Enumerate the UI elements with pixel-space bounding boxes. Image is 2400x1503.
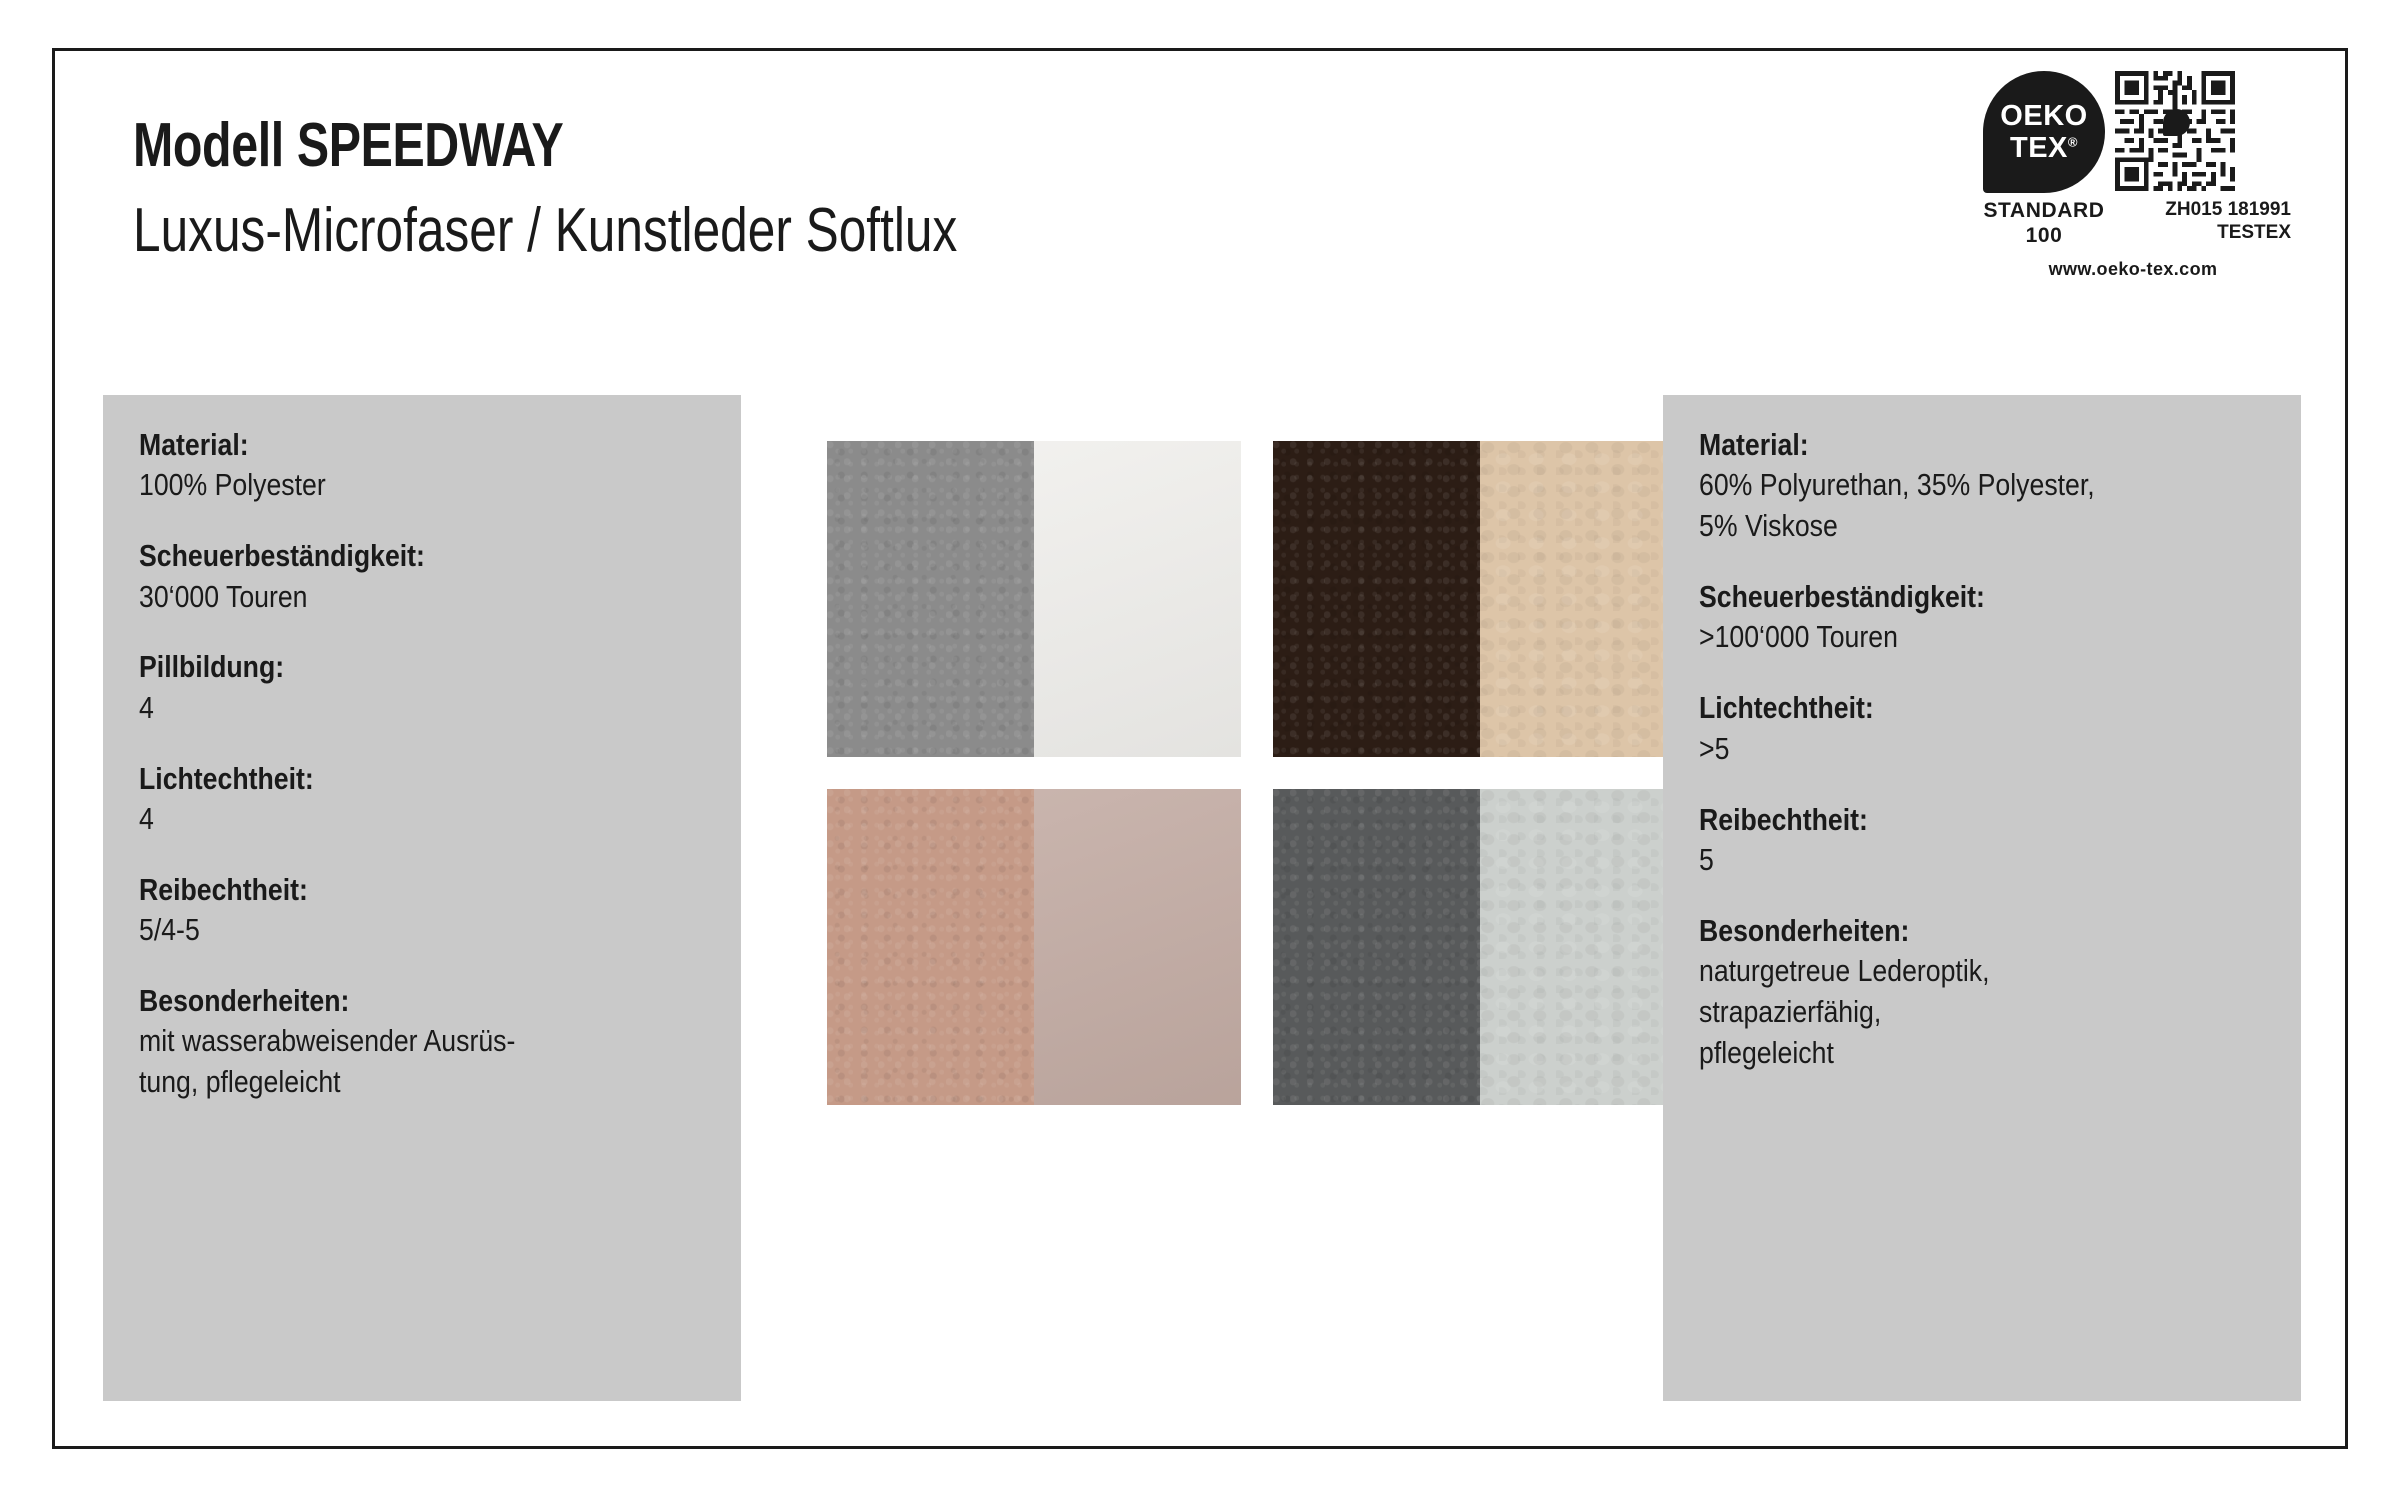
spec-item: Lichtechtheit:>5: [1699, 688, 2265, 769]
certificate-number: ZH015 181991: [2117, 199, 2291, 222]
spec-value-line: naturgetreue Lederoptik,: [1699, 951, 2264, 992]
spec-label: Besonderheiten:: [139, 981, 626, 1021]
swatch-grey-microfiber-right: [1034, 441, 1241, 757]
oeko-tex-droplet-logo: OEKO TEX®: [1983, 71, 2105, 193]
spec-value-line: 5% Viskose: [1699, 506, 2264, 547]
swatch-darkbrown-beige-left: [1273, 441, 1480, 757]
spec-value-line: 100% Polyester: [139, 465, 704, 506]
spec-value-line: pflegeleicht: [1699, 1033, 2264, 1074]
fabric-swatch-grid: [827, 441, 1647, 1105]
spec-value-line: 60% Polyurethan, 35% Polyester,: [1699, 465, 2264, 506]
spec-label: Scheuerbeständigkeit:: [139, 536, 626, 576]
spec-item: Lichtechtheit:4: [139, 759, 705, 840]
spec-value: 60% Polyurethan, 35% Polyester,5% Viskos…: [1699, 465, 2264, 547]
spec-label: Material:: [1699, 425, 2186, 465]
oeko-tex-brand-line2: TEX®: [2010, 134, 2078, 163]
spec-value: >5: [1699, 729, 2264, 770]
spec-value: 30‘000 Touren: [139, 577, 704, 618]
spec-value-line: 4: [139, 799, 704, 840]
spec-value-line: 30‘000 Touren: [139, 577, 704, 618]
spec-value: 5/4-5: [139, 910, 704, 951]
spec-value-line: 5/4-5: [139, 910, 704, 951]
model-subtitle: Luxus-Microfaser / Kunstleder Softlux: [133, 192, 957, 270]
spec-item: Besonderheiten:mit wasserabweisender Aus…: [139, 981, 705, 1103]
swatch-darkbrown-beige-right: [1480, 441, 1687, 757]
spec-value: 5: [1699, 840, 2264, 881]
oeko-tex-brand-line1: OEKO: [2000, 102, 2087, 131]
swatch-rose-mauve-right: [1034, 789, 1241, 1105]
oeko-tex-label-subline: STANDARD 100 ZH015 181991 TESTEX: [1983, 199, 2293, 249]
swatch-grey-microfiber: [827, 441, 1241, 757]
model-title: Modell SPEEDWAY: [133, 111, 937, 180]
spec-value: >100‘000 Touren: [1699, 617, 2264, 658]
oeko-tex-standard-line1: STANDARD: [1983, 199, 2105, 224]
spec-panel-softlux: Material:60% Polyurethan, 35% Polyester,…: [1663, 395, 2301, 1401]
spec-value-line: 4: [139, 688, 704, 729]
spec-item: Pillbildung:4: [139, 647, 705, 728]
spec-value: 100% Polyester: [139, 465, 704, 506]
spec-value-line: 5: [1699, 840, 2264, 881]
datasheet-frame: Modell SPEEDWAY Luxus-Microfaser / Kunst…: [52, 48, 2348, 1449]
spec-item: Material:100% Polyester: [139, 425, 705, 506]
spec-panel-microfiber: Material:100% PolyesterScheuerbeständigk…: [103, 395, 741, 1401]
spec-item: Material:60% Polyurethan, 35% Polyester,…: [1699, 425, 2265, 547]
swatch-charcoal-silver-left: [1273, 789, 1480, 1105]
spec-value: mit wasserabweisender Ausrüs-tung, pfleg…: [139, 1021, 704, 1103]
oeko-tex-standard-line2: 100: [1983, 224, 2105, 249]
oeko-tex-standard: STANDARD 100: [1983, 199, 2105, 249]
spec-item: Besonderheiten:naturgetreue Lederoptik,s…: [1699, 911, 2265, 1074]
model-title-name: SPEEDWAY: [297, 111, 564, 180]
page-title: Modell SPEEDWAY Luxus-Microfaser / Kunst…: [133, 111, 1163, 270]
oeko-tex-label: OEKO TEX®: [1983, 71, 2293, 280]
swatch-rose-mauve-left: [827, 789, 1034, 1105]
qr-center-droplet-icon: [2163, 109, 2190, 136]
spec-value-line: >5: [1699, 729, 2264, 770]
spec-value: 4: [139, 688, 704, 729]
qr-code-icon: [2115, 71, 2235, 191]
swatch-darkbrown-beige: [1273, 441, 1687, 757]
oeko-tex-url: www.oeko-tex.com: [1983, 259, 2293, 280]
spec-label: Pillbildung:: [139, 647, 626, 687]
spec-value-line: >100‘000 Touren: [1699, 617, 2264, 658]
spec-label: Scheuerbeständigkeit:: [1699, 577, 2186, 617]
certificate-institute: TESTEX: [2117, 222, 2291, 245]
oeko-tex-certificate: ZH015 181991 TESTEX: [2117, 199, 2293, 249]
spec-item: Scheuerbeständigkeit:30‘000 Touren: [139, 536, 705, 617]
spec-item: Scheuerbeständigkeit:>100‘000 Touren: [1699, 577, 2265, 658]
model-title-prefix: Modell: [133, 111, 297, 180]
spec-value-line: mit wasserabweisender Ausrüs-: [139, 1021, 704, 1062]
spec-label: Lichtechtheit:: [1699, 688, 2186, 728]
spec-label: Besonderheiten:: [1699, 911, 2186, 951]
swatch-rose-mauve: [827, 789, 1241, 1105]
spec-value-line: tung, pflegeleicht: [139, 1062, 704, 1103]
swatch-charcoal-silver: [1273, 789, 1687, 1105]
spec-item: Reibechtheit:5: [1699, 800, 2265, 881]
spec-value-line: strapazierfähig,: [1699, 992, 2264, 1033]
swatch-charcoal-silver-right: [1480, 789, 1687, 1105]
spec-value: 4: [139, 799, 704, 840]
registered-mark-icon: ®: [2068, 134, 2078, 149]
spec-value: naturgetreue Lederoptik,strapazierfähig,…: [1699, 951, 2264, 1074]
spec-label: Reibechtheit:: [1699, 800, 2186, 840]
spec-item: Reibechtheit:5/4-5: [139, 870, 705, 951]
oeko-tex-label-top: OEKO TEX®: [1983, 71, 2293, 193]
swatch-grey-microfiber-left: [827, 441, 1034, 757]
spec-label: Reibechtheit:: [139, 870, 626, 910]
spec-label: Material:: [139, 425, 626, 465]
spec-label: Lichtechtheit:: [139, 759, 626, 799]
